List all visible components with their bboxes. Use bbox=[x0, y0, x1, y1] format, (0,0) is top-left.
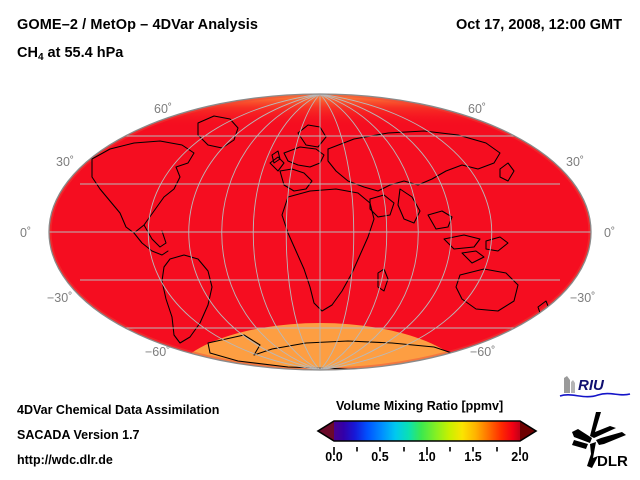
riu-logo: RIU bbox=[558, 374, 632, 400]
colorbar-svg bbox=[316, 419, 538, 443]
footer-line-1: 4DVar Chemical Data Assimilation bbox=[17, 403, 219, 417]
colorbar-title: Volume Mixing Ratio [ppmv] bbox=[336, 399, 503, 413]
colorbar-tick-label-0: 0.0 bbox=[325, 450, 342, 464]
species-label: CH4 at 55.4 hPa bbox=[17, 45, 123, 63]
lat-label-left-30: 30˚ bbox=[56, 155, 74, 169]
colorbar-tick-label-4: 2.0 bbox=[511, 450, 528, 464]
lat-label-right-m30: −30˚ bbox=[570, 291, 595, 305]
timestamp: Oct 17, 2008, 12:00 GMT bbox=[456, 17, 622, 33]
lat-label-right-0: 0˚ bbox=[604, 226, 615, 240]
dlr-logo-text: DLR bbox=[597, 453, 628, 470]
colorbar-gradient bbox=[334, 421, 520, 441]
figure-title: GOME–2 / MetOp – 4DVar Analysis bbox=[17, 17, 258, 33]
colorbar-tick-label-1: 0.5 bbox=[371, 450, 388, 464]
lat-label-right-30: 30˚ bbox=[566, 155, 584, 169]
riu-wave-icon bbox=[560, 394, 630, 397]
dlr-logo: DLR bbox=[566, 410, 632, 472]
colorbar-tick-label-3: 1.5 bbox=[464, 450, 481, 464]
footer-line-3-url: http://wdc.dlr.de bbox=[17, 453, 113, 467]
figure-root: GOME–2 / MetOp – 4DVar Analysis CH4 at 5… bbox=[0, 0, 640, 480]
riu-tower-icon bbox=[564, 376, 570, 393]
footer-line-2: SACADA Version 1.7 bbox=[17, 428, 140, 442]
lat-label-left-m60: −60˚ bbox=[145, 345, 170, 359]
mollweide-map bbox=[48, 93, 592, 371]
lat-label-left-m30: −30˚ bbox=[47, 291, 72, 305]
colorbar-under-arrow bbox=[318, 421, 334, 441]
lat-label-left-60: 60˚ bbox=[154, 102, 172, 116]
map-data-layer bbox=[48, 93, 592, 371]
colorbar-tick-label-2: 1.0 bbox=[418, 450, 435, 464]
lat-label-right-m60: −60˚ bbox=[470, 345, 495, 359]
species-name: CH bbox=[17, 45, 38, 61]
riu-logo-text: RIU bbox=[578, 377, 605, 394]
species-level: at 55.4 hPa bbox=[44, 45, 124, 61]
riu-tower2-icon bbox=[571, 380, 575, 393]
map-panel bbox=[48, 93, 592, 371]
lat-label-right-60: 60˚ bbox=[468, 102, 486, 116]
colorbar bbox=[316, 419, 538, 443]
colorbar-over-arrow bbox=[520, 421, 536, 441]
lat-label-left-0: 0˚ bbox=[20, 226, 31, 240]
